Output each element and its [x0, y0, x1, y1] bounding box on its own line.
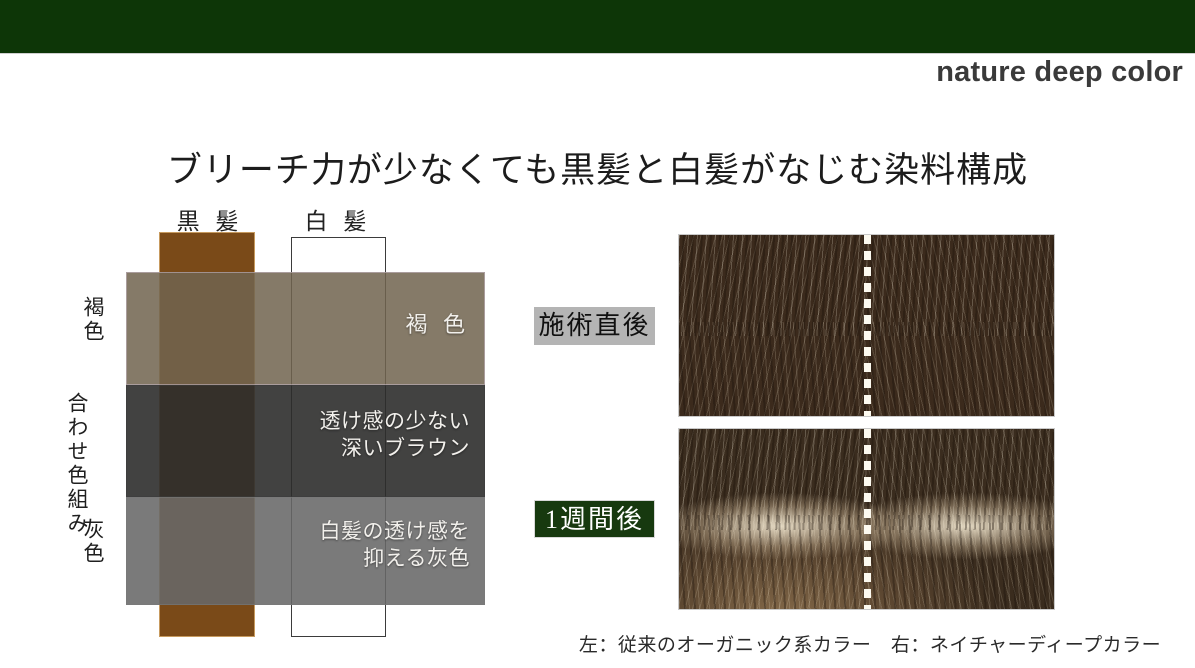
column-label-black-hair: 黒 髪: [160, 202, 260, 236]
row-label-brown: 褐色: [82, 296, 104, 344]
photo-divider-dotted-bottom: [864, 429, 871, 609]
photo-divider-dotted-top: [864, 235, 871, 416]
dye-layer-stack: 褐 色 透け感の少ない 深いブラウン 白髪の透け感を 抑える灰色: [126, 272, 485, 605]
dye-layer-combination: 透け感の少ない 深いブラウン: [126, 385, 485, 497]
brand-title: nature deep color: [936, 56, 1183, 89]
dye-layer-brown-label: 褐 色: [405, 311, 470, 339]
dye-layer-gray-label: 白髪の透け感を 抑える灰色: [320, 518, 471, 572]
photo-caption: 左：従来のオーガニック系カラー 右：ネイチャーディープカラー: [555, 630, 1185, 657]
column-label-white-hair: 白 髪: [288, 202, 388, 236]
dye-layer-combination-label: 透け感の少ない 深いブラウン: [320, 408, 471, 462]
photo-immediately-after: [678, 234, 1055, 417]
badge-one-week-later: 1週間後: [534, 500, 655, 538]
photo-one-week-later: [678, 428, 1055, 610]
row-label-combination-line2: 合わせ色: [66, 392, 88, 488]
dye-layer-gray: 白髪の透け感を 抑える灰色: [126, 497, 485, 605]
dye-composition-diagram: 黒 髪 白 髪 褐 色 透け感の少ない 深いブラウン 白髪の透け感を 抑える灰色…: [0, 0, 540, 668]
badge-immediately-after: 施術直後: [534, 307, 655, 345]
row-label-gray: 灰色: [82, 518, 104, 566]
row-label-combination: 合わせ色 組み: [66, 392, 88, 536]
dye-layer-brown: 褐 色: [126, 272, 485, 385]
